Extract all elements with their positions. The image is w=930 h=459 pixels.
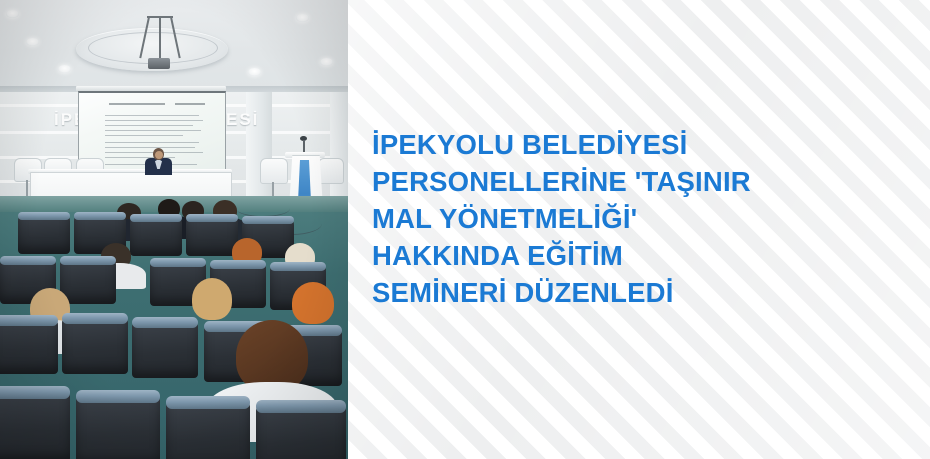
- auditorium-seat: [76, 394, 160, 459]
- audience-headscarf: [292, 282, 334, 324]
- ceiling-downlight-icon: [26, 38, 39, 46]
- conference-hall-scene: İPE ESİ: [0, 0, 348, 459]
- ceiling-downlight-icon: [58, 65, 71, 73]
- auditorium-seat: [0, 390, 70, 459]
- white-chair: [260, 158, 288, 184]
- headline-line: MAL YÖNETMELİĞİ': [372, 200, 902, 237]
- news-photo: İPE ESİ: [0, 0, 348, 459]
- headline-panel: İPEKYOLU BELEDİYESİ PERSONELLERİNE 'TAŞI…: [348, 0, 930, 459]
- white-chair: [318, 158, 344, 184]
- headline: İPEKYOLU BELEDİYESİ PERSONELLERİNE 'TAŞI…: [372, 126, 902, 311]
- ceiling-downlight-icon: [296, 14, 309, 22]
- auditorium-seat: [0, 318, 58, 374]
- auditorium-seat: [132, 320, 198, 378]
- headline-line: HAKKINDA EĞİTİM: [372, 237, 902, 274]
- ceiling-downlight-icon: [320, 58, 333, 66]
- headline-line: SEMİNERİ DÜZENLEDİ: [372, 274, 902, 311]
- ceiling-downlight-icon: [6, 10, 19, 18]
- audience-head: [192, 278, 232, 320]
- auditorium-seat: [186, 216, 238, 256]
- news-card: İPE ESİ: [0, 0, 930, 459]
- headline-line: İPEKYOLU BELEDİYESİ: [372, 126, 902, 163]
- auditorium-seat: [130, 216, 182, 256]
- ceiling-downlight-icon: [248, 68, 261, 76]
- presenter-person: [145, 148, 171, 174]
- headline-line: PERSONELLERİNE 'TAŞINIR: [372, 163, 902, 200]
- projector-mount-rod: [159, 18, 161, 60]
- projector-icon: [148, 58, 170, 69]
- auditorium-seat: [18, 214, 70, 254]
- auditorium-seat: [62, 316, 128, 374]
- wall-lettering-right: ESİ: [226, 110, 259, 130]
